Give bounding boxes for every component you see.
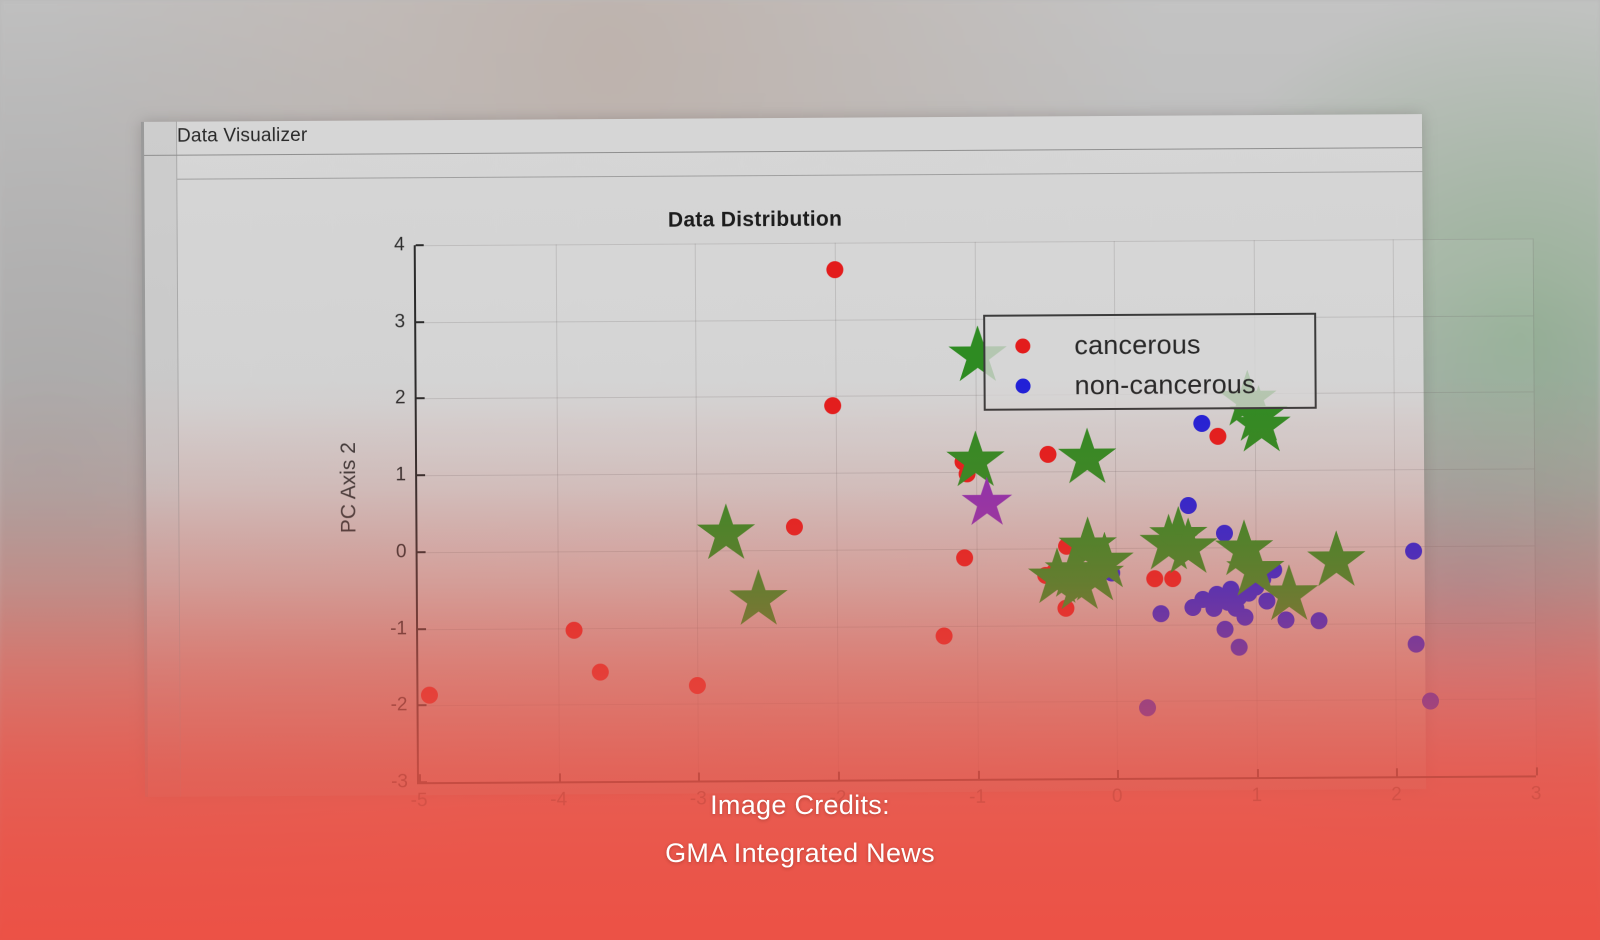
y-tick-label: 1 xyxy=(395,464,406,486)
data-point-non-cancerous xyxy=(1258,592,1275,609)
data-point-cancerous xyxy=(1165,570,1182,587)
data-point-cancerous xyxy=(959,465,976,482)
data-point-centroid-green xyxy=(1214,519,1274,579)
x-tick xyxy=(1257,769,1259,777)
x-tick xyxy=(838,772,840,780)
data-point-cancerous xyxy=(1051,572,1068,589)
x-tick xyxy=(1117,770,1119,778)
legend-label-cancerous: cancerous xyxy=(1074,329,1201,361)
data-point-non-cancerous xyxy=(1219,594,1236,611)
data-point-cancerous xyxy=(1058,538,1075,555)
y-tick-label: 3 xyxy=(395,311,406,333)
data-point-centroid-green xyxy=(1058,516,1118,576)
data-point-centroid-green xyxy=(1027,547,1087,607)
gridline-vertical xyxy=(695,244,699,781)
x-tick xyxy=(698,773,700,781)
data-point-non-cancerous xyxy=(1194,591,1211,608)
data-point-cancerous xyxy=(936,628,953,645)
data-point-cancerous xyxy=(1046,563,1063,580)
data-visualizer-window[interactable]: Data Visualizer Data Distribution PC Axi… xyxy=(141,114,1426,797)
chart-legend[interactable]: cancerous non-cancerous xyxy=(983,313,1317,411)
y-tick-label: 2 xyxy=(395,388,406,410)
data-point-non-cancerous xyxy=(1231,638,1248,655)
data-point-cancerous xyxy=(824,397,841,414)
data-point-non-cancerous xyxy=(1228,600,1245,617)
window-title-label: Data Visualizer xyxy=(177,124,308,147)
gridline-vertical xyxy=(835,243,839,780)
credits-source: GMA Integrated News xyxy=(0,838,1600,869)
data-point-cancerous xyxy=(566,622,583,639)
y-tick-label: -2 xyxy=(391,695,408,717)
data-point-cancerous xyxy=(1065,566,1082,583)
y-tick-label: -1 xyxy=(390,618,407,640)
window-left-rail xyxy=(144,122,181,797)
image-credits: Image Credits: GMA Integrated News xyxy=(0,790,1600,869)
data-point-cancerous xyxy=(1072,578,1089,595)
figure-canvas: Data Distribution PC Axis 2 -5-4-3-2-101… xyxy=(177,172,1426,797)
data-point-cancerous xyxy=(1040,446,1057,463)
data-point-non-cancerous xyxy=(1208,586,1225,603)
data-point-cancerous xyxy=(1091,561,1108,578)
x-tick xyxy=(1536,767,1538,775)
y-axis-title: PC Axis 2 xyxy=(337,442,362,533)
data-point-centroid-green xyxy=(1057,427,1117,487)
data-point-cancerous xyxy=(1037,567,1054,584)
data-point-centroid-green xyxy=(1049,553,1109,613)
data-point-cancerous xyxy=(786,518,803,535)
data-point-non-cancerous xyxy=(1216,525,1233,542)
credits-heading: Image Credits: xyxy=(0,790,1600,821)
data-point-centroid-green xyxy=(1259,564,1319,624)
data-point-non-cancerous xyxy=(1310,612,1327,629)
data-point-non-cancerous xyxy=(1184,599,1201,616)
legend-swatch-cancerous xyxy=(1015,338,1030,353)
data-point-non-cancerous xyxy=(1278,611,1295,628)
data-point-non-cancerous xyxy=(1222,581,1239,598)
data-point-cancerous xyxy=(956,549,973,566)
x-tick xyxy=(559,773,561,781)
legend-swatch-non-cancerous xyxy=(1016,378,1031,393)
data-point-cancerous xyxy=(1057,599,1074,616)
data-point-centroid-green xyxy=(1148,506,1208,566)
data-point-cancerous xyxy=(421,687,438,704)
data-point-centroid-green xyxy=(696,503,756,563)
data-point-cancerous xyxy=(954,454,971,471)
y-tick xyxy=(418,628,426,630)
y-tick xyxy=(416,321,424,323)
gridlines xyxy=(416,238,1533,245)
data-point-non-cancerous xyxy=(1422,692,1439,709)
data-point-non-cancerous xyxy=(1103,565,1120,582)
legend-entry-cancerous[interactable]: cancerous xyxy=(985,324,1314,366)
y-tick-label: 4 xyxy=(394,234,405,256)
data-point-centroid-green xyxy=(1044,541,1104,601)
data-point-non-cancerous xyxy=(1193,414,1210,431)
y-tick xyxy=(418,551,426,553)
data-point-centroid-green xyxy=(728,569,788,629)
data-point-centroid-green xyxy=(1074,532,1134,592)
data-point-highlight-purple xyxy=(961,476,1013,528)
data-point-cancerous xyxy=(1146,570,1163,587)
y-tick xyxy=(419,781,427,783)
y-tick xyxy=(417,474,425,476)
data-point-cancerous xyxy=(1082,565,1099,582)
screenshot-stage: Data Visualizer Data Distribution PC Axi… xyxy=(0,0,1600,940)
gridline-vertical xyxy=(555,244,559,781)
x-tick xyxy=(977,771,979,779)
data-point-non-cancerous xyxy=(1205,600,1222,617)
y-tick xyxy=(417,398,425,400)
gridline-vertical xyxy=(974,242,978,779)
y-tick xyxy=(419,704,427,706)
chart-title: Data Distribution xyxy=(177,204,1422,236)
data-point-non-cancerous xyxy=(1408,636,1425,653)
data-point-non-cancerous xyxy=(1230,589,1247,606)
gridline-vertical xyxy=(1393,239,1397,776)
data-point-cancerous xyxy=(591,664,608,681)
data-point-non-cancerous xyxy=(1265,561,1282,578)
legend-label-non-cancerous: non-cancerous xyxy=(1074,369,1255,401)
data-point-centroid-green xyxy=(1139,513,1199,573)
legend-entry-non-cancerous[interactable]: non-cancerous xyxy=(985,364,1314,406)
plot-area[interactable]: -5-4-3-2-10123-3-2-101234 xyxy=(414,238,1536,784)
data-point-non-cancerous xyxy=(1152,605,1169,622)
data-point-centroid-green xyxy=(1306,530,1366,590)
y-tick-label: 0 xyxy=(396,541,407,563)
data-point-non-cancerous xyxy=(1179,497,1196,514)
x-tick xyxy=(1396,768,1398,776)
data-point-cancerous xyxy=(1210,427,1227,444)
y-tick xyxy=(416,244,424,246)
